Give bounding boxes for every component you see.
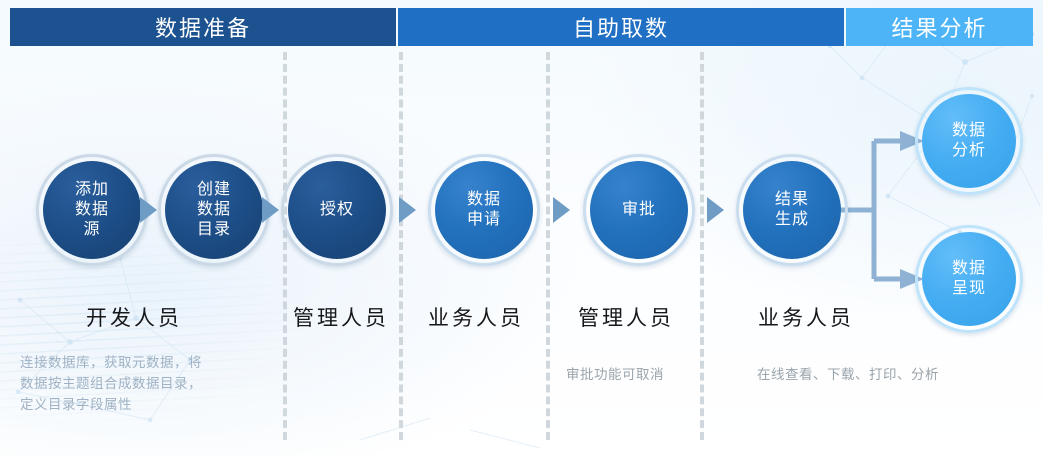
node-add-datasource-label: 添加 数据 源 [75, 180, 109, 240]
node-data-present[interactable]: 数据 呈现 [915, 225, 1023, 333]
node-authorize-label: 授权 [320, 200, 354, 220]
arrow-request-to-approval [553, 197, 570, 223]
diagram-canvas: 数据准备 自助取数 结果分析 添加 数据 源 创建 数据 目录 授权 [0, 0, 1043, 456]
node-data-request[interactable]: 数据 申请 [428, 154, 540, 266]
arrow-authorize-to-request [399, 197, 416, 223]
arrow-create-to-authorize [262, 197, 279, 223]
node-result-generate-label: 结果 生成 [775, 190, 809, 230]
role-label-admin-1: 管理人员 [293, 302, 389, 332]
node-result-generate[interactable]: 结果 生成 [736, 154, 848, 266]
node-data-analysis[interactable]: 数据 分析 [915, 87, 1023, 195]
node-create-catalog-label: 创建 数据 目录 [197, 180, 231, 240]
caption-approval: 审批功能可取消 [566, 364, 746, 385]
node-data-analysis-label: 数据 分析 [952, 121, 986, 161]
node-add-datasource[interactable]: 添加 数据 源 [36, 154, 148, 266]
node-approval-label: 审批 [622, 200, 656, 220]
node-authorize[interactable]: 授权 [281, 154, 393, 266]
role-label-admin-2: 管理人员 [578, 302, 674, 332]
arrow-add-to-create [140, 197, 157, 223]
role-label-developer: 开发人员 [86, 302, 182, 332]
node-create-catalog[interactable]: 创建 数据 目录 [158, 154, 270, 266]
lane-divider-3 [546, 52, 550, 440]
node-data-request-label: 数据 申请 [467, 190, 501, 230]
node-approval[interactable]: 审批 [583, 154, 695, 266]
caption-prep: 连接数据库，获取元数据，将 数据按主题组合成数据目录， 定义目录字段属性 [20, 352, 275, 415]
caption-result: 在线查看、下载、打印、分析 [757, 364, 1007, 385]
phase-header-prep-label: 数据准备 [155, 11, 251, 43]
phase-header-self-service-label: 自助取数 [573, 11, 669, 43]
role-label-business-1: 业务人员 [428, 302, 524, 332]
phase-header-analysis-label: 结果分析 [891, 11, 987, 43]
lane-divider-1 [283, 52, 287, 440]
arrow-approval-to-result [707, 197, 724, 223]
phase-header-prep: 数据准备 [10, 8, 396, 46]
lane-divider-2 [399, 52, 403, 440]
role-label-business-2: 业务人员 [758, 302, 854, 332]
phase-header-analysis: 结果分析 [846, 8, 1033, 46]
node-data-present-label: 数据 呈现 [952, 259, 986, 299]
phase-header-self-service: 自助取数 [398, 8, 844, 46]
